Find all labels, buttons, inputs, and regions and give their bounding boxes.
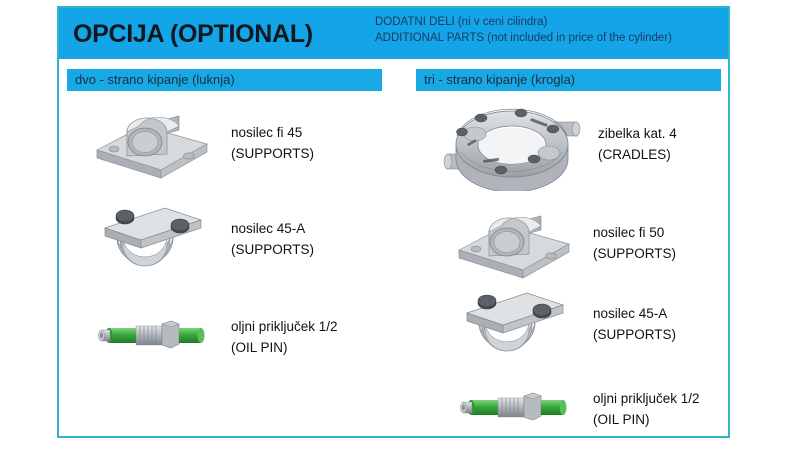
note-line-english: ADDITIONAL PARTS (not included in price … [375,30,725,46]
header-banner: OPCIJA (OPTIONAL) DODATNI DELI (ni v cen… [59,8,728,59]
item-name-en: (SUPPORTS) [593,324,676,345]
note-line-slovene: DODATNI DELI (ni v ceni cilindra) [375,14,725,30]
list-item-label: nosilec 45-A (SUPPORTS) [593,303,676,345]
item-name-en: (SUPPORTS) [231,239,314,260]
column-header-three-way-tipping: tri - strano kipanje (krogla) [416,69,721,91]
list-item-label: nosilec fi 45 (SUPPORTS) [231,122,314,164]
item-name-sl: oljni priključek 1/2 [593,391,700,406]
pillow-block-bearing-support-icon [87,104,217,182]
list-item-label: zibelka kat. 4 (CRADLES) [598,123,677,165]
item-name-en: (SUPPORTS) [593,243,676,264]
pillow-block-bearing-support-icon [449,204,579,282]
item-name-en: (OIL PIN) [231,337,338,358]
item-name-en: (OIL PIN) [593,409,700,430]
list-item: nosilec 45-A (SUPPORTS) [87,200,314,278]
additional-parts-note: DODATNI DELI (ni v ceni cilindra) ADDITI… [375,14,725,46]
list-item: oljni priključek 1/2 (OIL PIN) [87,298,338,376]
oil-pin-fitting-icon [87,298,217,376]
list-item: zibelka kat. 4 (CRADLES) [439,96,677,191]
cradle-trunnion-ring-icon [439,96,584,191]
item-name-sl: zibelka kat. 4 [598,126,677,141]
options-sheet: OPCIJA (OPTIONAL) DODATNI DELI (ni v cen… [57,6,730,438]
item-name-sl: nosilec 45-A [231,221,305,236]
column-header-two-way-tipping: dvo - strano kipanje (luknja) [67,69,382,91]
item-name-en: (SUPPORTS) [231,143,314,164]
list-item: nosilec fi 45 (SUPPORTS) [87,104,314,182]
item-name-en: (CRADLES) [598,144,677,165]
list-item: nosilec 45-A (SUPPORTS) [449,285,676,363]
list-item-label: nosilec 45-A (SUPPORTS) [231,218,314,260]
split-clamp-bearing-support-icon [87,200,217,278]
oil-pin-fitting-icon [449,370,579,448]
item-name-sl: nosilec fi 50 [593,225,664,240]
list-item-label: oljni priključek 1/2 (OIL PIN) [231,316,338,358]
list-item: oljni priključek 1/2 (OIL PIN) [449,370,700,448]
split-clamp-bearing-support-icon [449,285,579,363]
list-item: nosilec fi 50 (SUPPORTS) [449,204,676,282]
list-item-label: oljni priključek 1/2 (OIL PIN) [593,388,700,430]
list-item-label: nosilec fi 50 (SUPPORTS) [593,222,676,264]
item-name-sl: nosilec 45-A [593,306,667,321]
page-title: OPCIJA (OPTIONAL) [73,20,313,49]
item-name-sl: oljni priključek 1/2 [231,319,338,334]
item-name-sl: nosilec fi 45 [231,125,302,140]
